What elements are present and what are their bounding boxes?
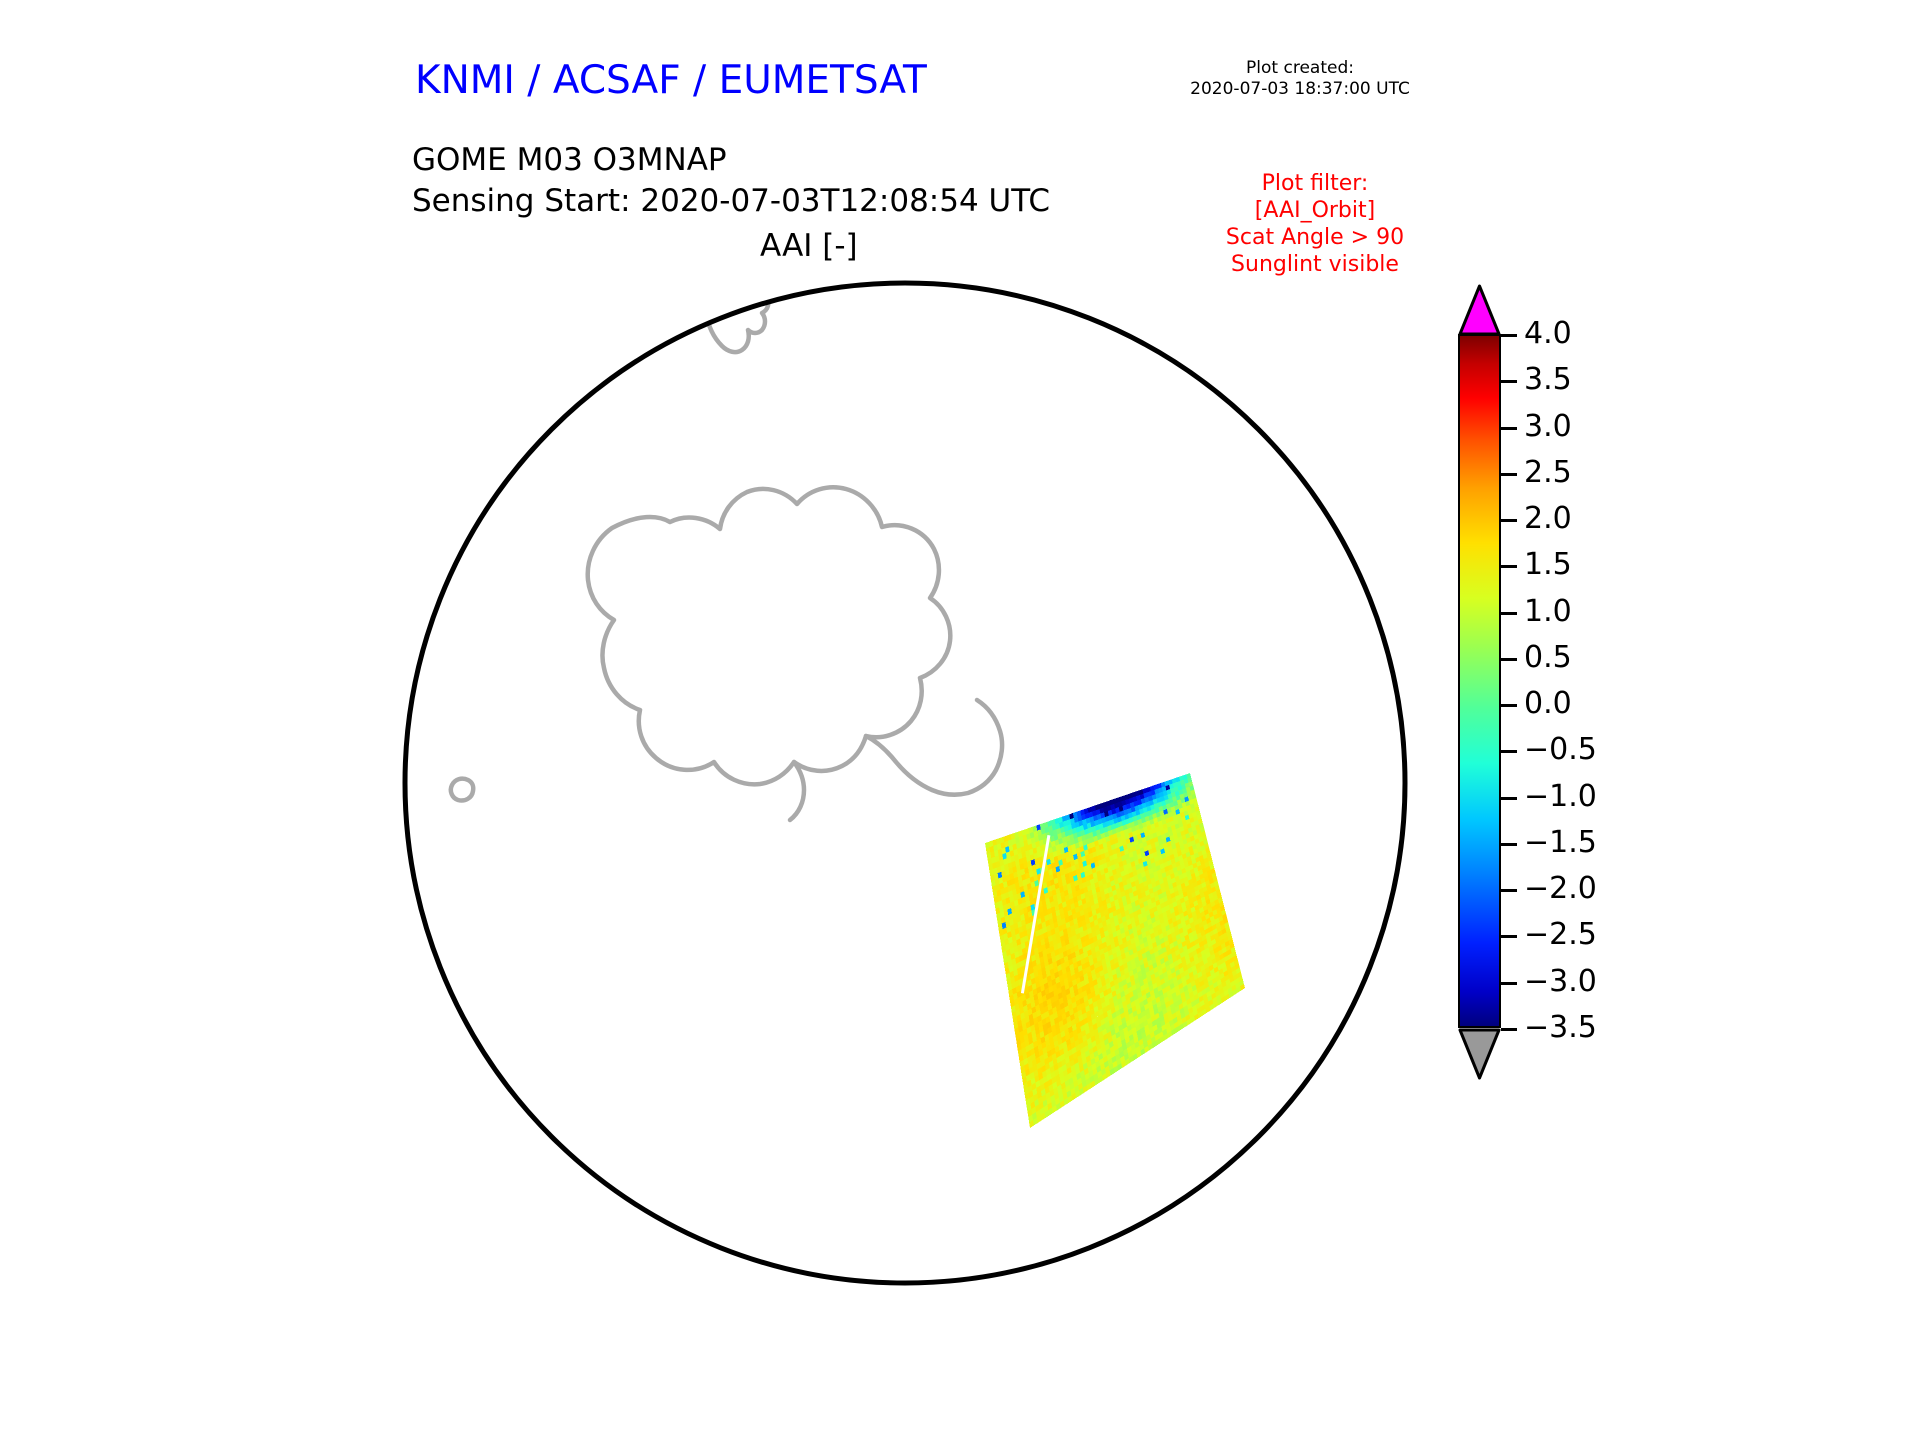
colorbar-tick xyxy=(1501,519,1517,522)
colorbar-tick xyxy=(1501,889,1517,892)
colorbar-tick-label: 2.0 xyxy=(1524,504,1572,534)
colorbar-tick-label: 4.0 xyxy=(1524,319,1572,349)
colorbar-tick-label: −3.0 xyxy=(1524,967,1597,997)
colorbar-tick xyxy=(1501,427,1517,430)
sensing-start-line: Sensing Start: 2020-07-03T12:08:54 UTC xyxy=(412,181,1050,222)
island-north xyxy=(538,339,569,370)
colorbar: 4.03.53.02.52.01.51.00.50.0−0.5−1.0−1.5−… xyxy=(1438,278,1698,1098)
coast-fragment-upper-left xyxy=(504,314,520,348)
colorbar-tick xyxy=(1501,982,1517,985)
colorbar-tick-label: 3.5 xyxy=(1524,365,1572,395)
colorbar-tick xyxy=(1501,1028,1517,1031)
colorbar-tick xyxy=(1501,658,1517,661)
organisation-title: KNMI / ACSAF / EUMETSAT xyxy=(415,58,927,103)
colorbar-tick-label: 3.0 xyxy=(1524,412,1572,442)
plot-created-block: Plot created: 2020-07-03 18:37:00 UTC xyxy=(1155,58,1445,100)
coastline-layer xyxy=(592,522,926,786)
colorbar-tick-label: 2.5 xyxy=(1524,458,1572,488)
colorbar-tick xyxy=(1501,797,1517,800)
colorbar-tick-label: 1.5 xyxy=(1524,550,1572,580)
colorbar-tick xyxy=(1501,612,1517,615)
map-svg xyxy=(390,268,1420,1298)
colorbar-tick-label: −2.5 xyxy=(1524,920,1597,950)
colorbar-tick-label: 0.0 xyxy=(1524,689,1572,719)
swath-cells xyxy=(985,773,1245,1128)
colorbar-tick-label: −1.0 xyxy=(1524,782,1597,812)
plot-created-label: Plot created: xyxy=(1155,58,1445,79)
colorbar-tick-label: −0.5 xyxy=(1524,735,1597,765)
quantity-title: AAI [-] xyxy=(760,228,858,264)
colorbar-tick-label: 1.0 xyxy=(1524,597,1572,627)
plot-canvas: KNMI / ACSAF / EUMETSAT Plot created: 20… xyxy=(0,0,1920,1440)
plot-filter-line-1: Plot filter: xyxy=(1180,170,1450,197)
colorbar-tick-label: 0.5 xyxy=(1524,643,1572,673)
colorbar-tick xyxy=(1501,380,1517,383)
colorbar-tick-label: −3.5 xyxy=(1524,1013,1597,1043)
colorbar-tick xyxy=(1501,704,1517,707)
plot-filter-block: Plot filter: [AAI_Orbit] Scat Angle > 90… xyxy=(1180,170,1450,278)
island-west xyxy=(451,779,473,801)
plot-filter-line-2: [AAI_Orbit] xyxy=(1180,197,1450,224)
colorbar-tick xyxy=(1501,843,1517,846)
colorbar-tick-label: −2.0 xyxy=(1524,874,1597,904)
colorbar-tick xyxy=(1501,334,1517,337)
plot-created-timestamp: 2020-07-03 18:37:00 UTC xyxy=(1155,79,1445,100)
coastline-final xyxy=(451,268,1002,820)
globe-boundary-circle xyxy=(405,283,1405,1283)
antarctic-map xyxy=(390,268,1420,1298)
antarctic-peninsula xyxy=(866,700,1002,795)
plot-filter-line-3: Scat Angle > 90 xyxy=(1180,224,1450,251)
product-info-block: GOME M03 O3MNAP Sensing Start: 2020-07-0… xyxy=(412,140,1050,222)
colorbar-tick xyxy=(1501,935,1517,938)
instrument-product-line: GOME M03 O3MNAP xyxy=(412,140,1050,181)
data-swath-layer xyxy=(985,773,1245,1128)
colorbar-tick xyxy=(1501,565,1517,568)
colorbar-tick xyxy=(1501,750,1517,753)
colorbar-tick-label: −1.5 xyxy=(1524,828,1597,858)
colorbar-tick xyxy=(1501,473,1517,476)
colorbar-gradient xyxy=(1458,334,1501,1028)
